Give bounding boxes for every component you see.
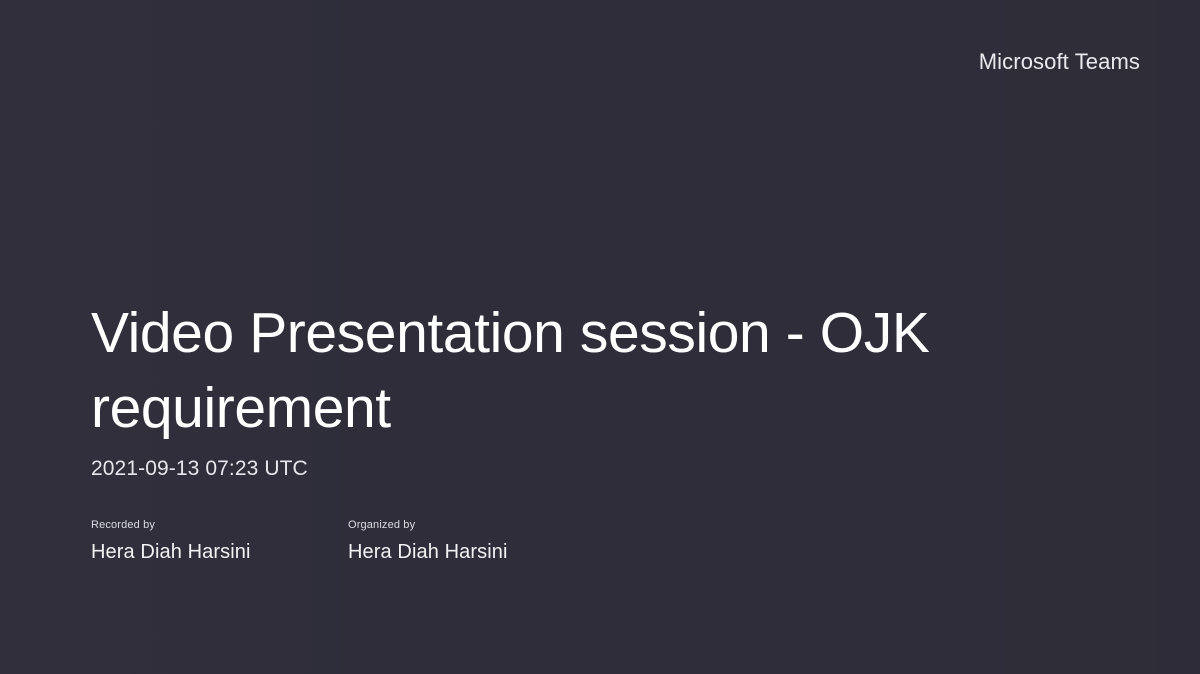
microsoft-teams-branding: Microsoft Teams: [979, 48, 1140, 76]
recorded-by-name: Hera Diah Harsini: [91, 540, 348, 565]
recorded-by-column: Recorded by Hera Diah Harsini: [91, 518, 348, 565]
recording-title: Video Presentation session - OJK require…: [91, 296, 951, 446]
recording-timestamp: 2021-09-13 07:23 UTC: [91, 456, 1140, 482]
recording-credits: Recorded by Hera Diah Harsini Organized …: [91, 518, 508, 565]
organized-by-name: Hera Diah Harsini: [348, 540, 508, 565]
organized-by-label: Organized by: [348, 518, 508, 533]
recording-info-block: Video Presentation session - OJK require…: [91, 296, 1140, 482]
recorded-by-label: Recorded by: [91, 518, 348, 533]
recording-title-slide: Microsoft Teams Video Presentation sessi…: [0, 0, 1200, 674]
organized-by-column: Organized by Hera Diah Harsini: [348, 518, 508, 565]
